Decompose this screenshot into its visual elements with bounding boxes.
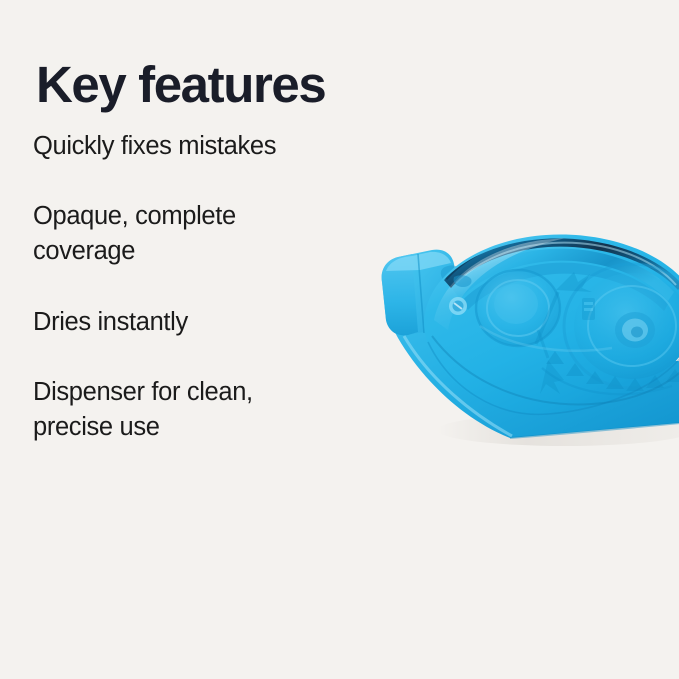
list-item: Dries instantly [33, 305, 363, 340]
product-photo-correction-tape [360, 130, 679, 470]
moulded-label-mark [582, 298, 595, 320]
list-item: Dispenser for clean, precise use [33, 375, 363, 445]
list-item: Opaque, complete coverage [33, 199, 363, 269]
feature-list: Quickly fixes mistakes Opaque, complete … [33, 129, 363, 445]
product-feature-card: Key features Quickly fixes mistakes Opaq… [0, 0, 679, 679]
list-item: Quickly fixes mistakes [33, 129, 363, 164]
page-title: Key features [36, 56, 325, 113]
left-spool-hub [476, 270, 560, 346]
pivot-screw-detail [449, 297, 467, 315]
